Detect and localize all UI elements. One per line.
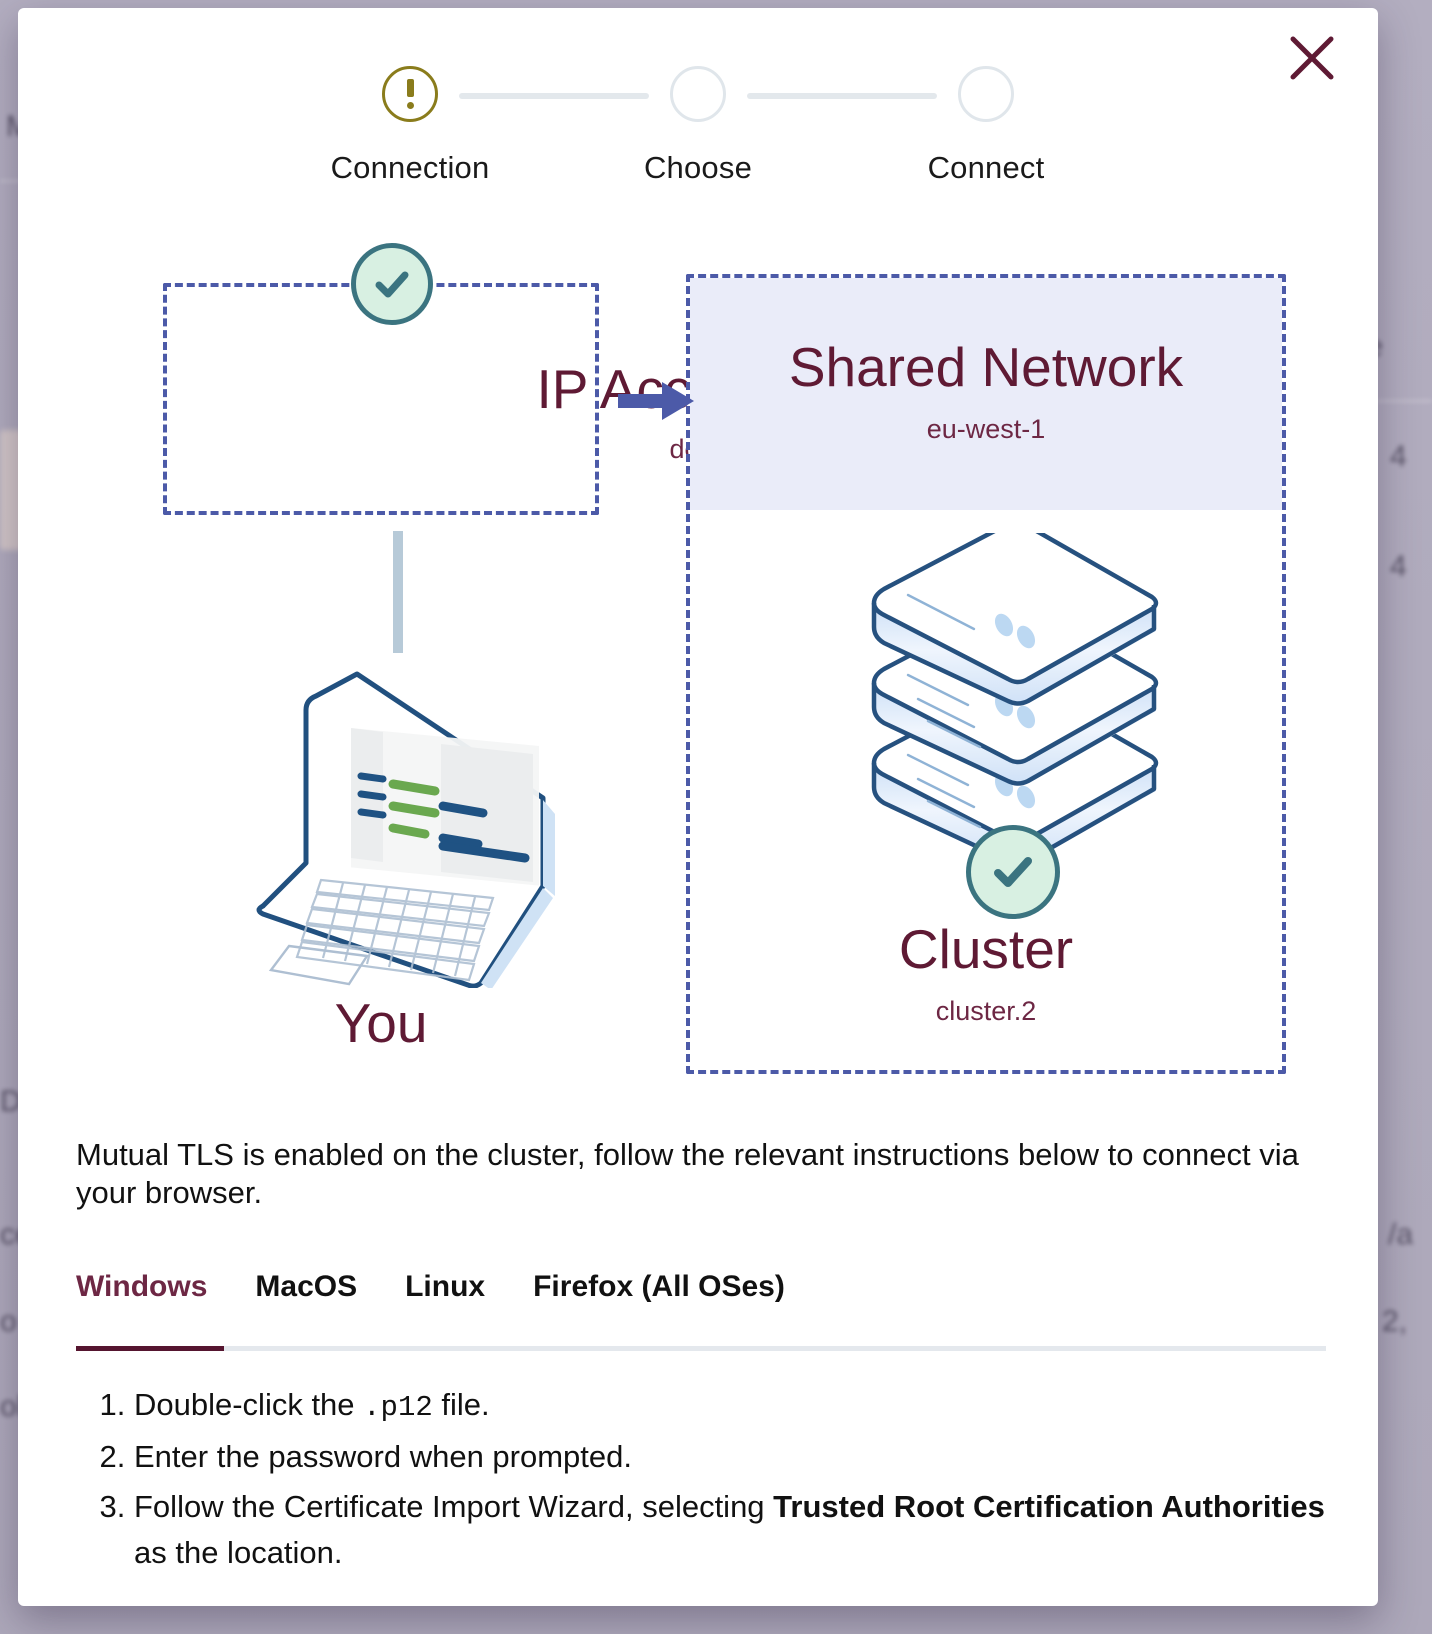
step1-post: file. — [433, 1387, 490, 1422]
stepper-label: Connection — [331, 150, 490, 186]
step3-bold: Trusted Root Certification Authorities — [773, 1489, 1325, 1524]
step1-code: .p12 — [363, 1391, 433, 1424]
backdrop-fragment: 4 — [1390, 440, 1407, 474]
right-arrow-icon — [618, 380, 694, 422]
you-title: You — [163, 996, 599, 1051]
stepper-label: Choose — [644, 150, 752, 186]
tab-macos[interactable]: MacOS — [233, 1270, 383, 1320]
server-stack-icon — [856, 533, 1176, 863]
tab-windows[interactable]: Windows — [76, 1270, 233, 1320]
cluster-title: Cluster — [686, 922, 1286, 977]
list-item: Enter the password when prompted. — [134, 1434, 1326, 1480]
exclamation-icon — [382, 66, 438, 122]
instruction-steps: Double-click the .p12 file. Enter the pa… — [76, 1382, 1326, 1580]
backdrop-fragment: o — [0, 1305, 17, 1339]
stepper-step-choose[interactable]: Choose — [554, 66, 842, 186]
tab-linux[interactable]: Linux — [383, 1270, 511, 1320]
empty-circle-icon — [958, 66, 1014, 122]
tab-firefox[interactable]: Firefox (All OSes) — [511, 1270, 811, 1320]
step1-pre: Double-click the — [134, 1387, 363, 1422]
os-tabs: Windows MacOS Linux Firefox (All OSes) — [76, 1270, 1326, 1320]
check-circle-icon — [351, 243, 433, 325]
tab-active-indicator — [76, 1346, 224, 1351]
network-diagram: IP Access list docs Shared Network eu-we… — [18, 258, 1378, 1098]
check-circle-icon — [966, 825, 1060, 919]
list-item: Follow the Certificate Import Wizard, se… — [134, 1484, 1326, 1576]
connection-line — [393, 531, 403, 653]
step3-post: as the location. — [134, 1535, 343, 1570]
backdrop-fragment: 2, — [1382, 1305, 1407, 1339]
shared-network-subtitle: eu-west-1 — [686, 416, 1286, 443]
stepper-step-connect[interactable]: Connect — [842, 66, 1130, 186]
cluster-subtitle: cluster.2 — [686, 998, 1286, 1025]
backdrop-fragment: 4 — [1390, 550, 1407, 584]
connect-modal: Connection Choose Connect IP Access list… — [18, 8, 1378, 1606]
empty-circle-icon — [670, 66, 726, 122]
backdrop-fragment: /a — [1388, 1218, 1413, 1252]
stepper-label: Connect — [928, 150, 1045, 186]
laptop-icon — [243, 658, 563, 988]
tab-underline-track — [76, 1346, 1326, 1351]
shared-network-title: Shared Network — [686, 340, 1286, 395]
wizard-stepper: Connection Choose Connect — [18, 66, 1378, 186]
step3-pre: Follow the Certificate Import Wizard, se… — [134, 1489, 773, 1524]
intro-text: Mutual TLS is enabled on the cluster, fo… — [76, 1136, 1326, 1212]
list-item: Double-click the .p12 file. — [134, 1382, 1326, 1430]
stepper-step-connection[interactable]: Connection — [266, 66, 554, 186]
